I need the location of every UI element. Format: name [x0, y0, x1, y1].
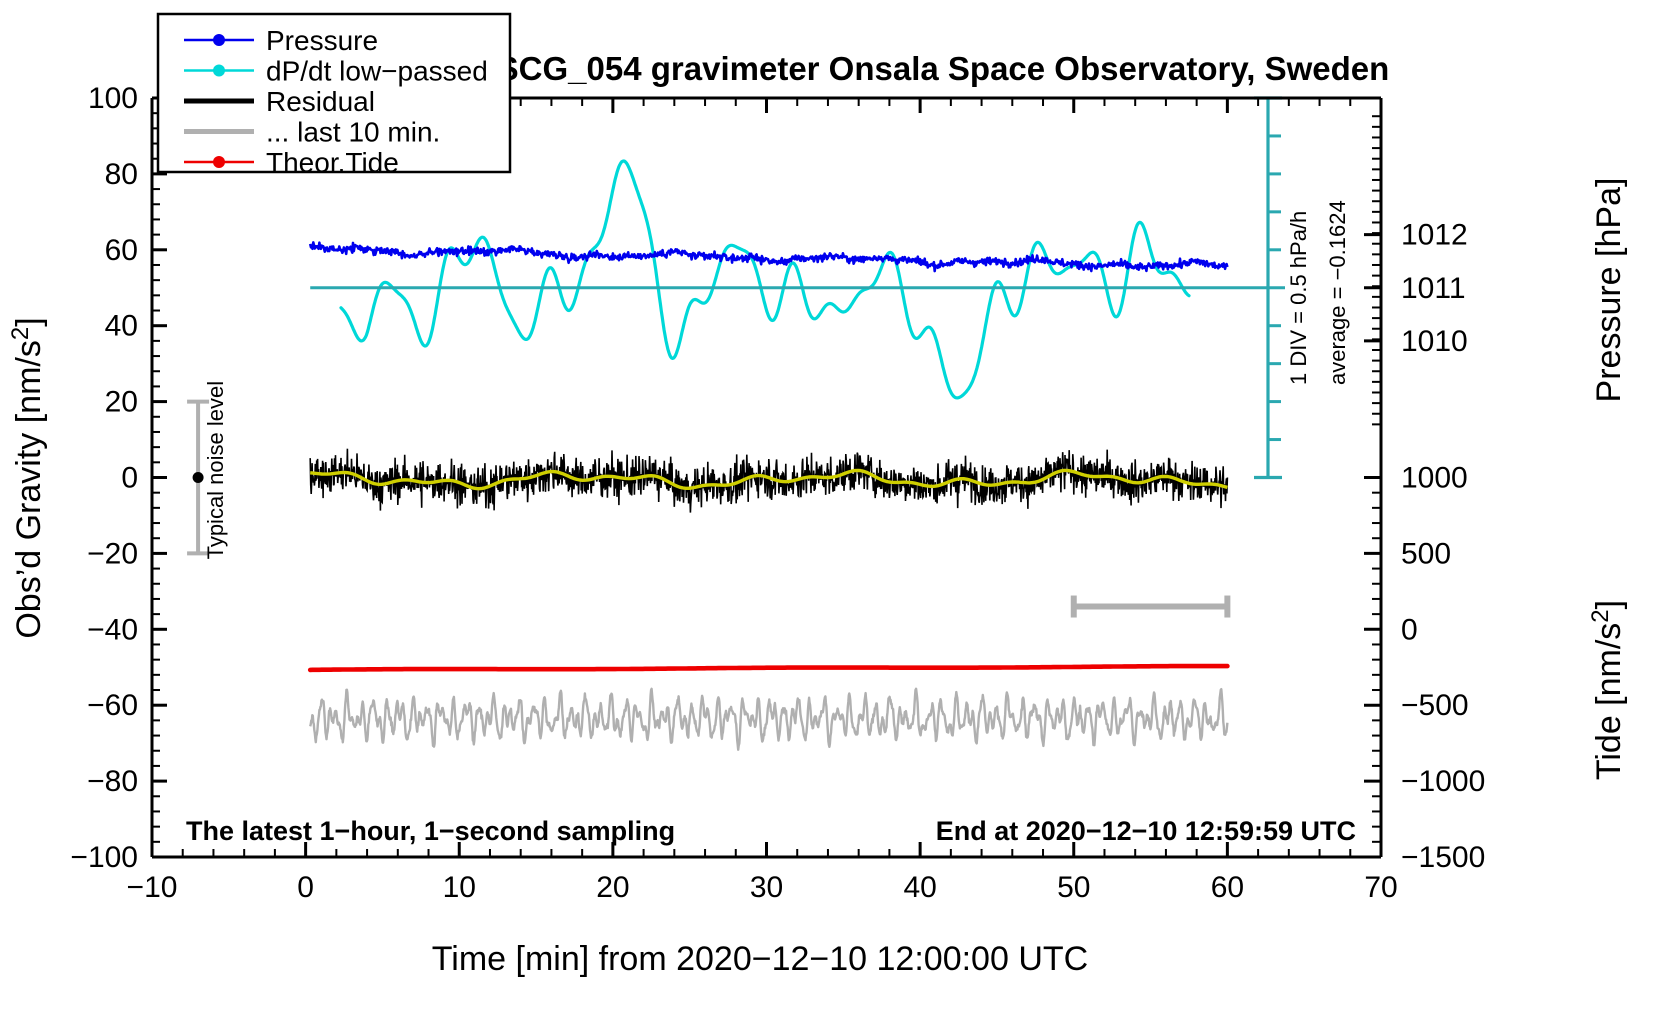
legend-item-label: Residual [266, 86, 375, 117]
legend-item-label: dP/dt low−passed [266, 56, 488, 87]
x-tick-label: 40 [903, 871, 936, 904]
legend-item-label: Pressure [266, 25, 378, 56]
y-tick-label: 40 [105, 310, 138, 343]
gravimeter-plot: Typical noise level−10010203040506070−10… [0, 0, 1660, 1020]
legend-swatch-marker [213, 65, 225, 77]
x-tick-label: 50 [1057, 871, 1090, 904]
y-tick-label: 60 [105, 234, 138, 267]
x-tick-label: 60 [1211, 871, 1244, 904]
chart-title: SCG_054 gravimeter Onsala Space Observat… [497, 50, 1390, 87]
x-tick-label: −10 [127, 871, 178, 904]
x-tick-label: 70 [1364, 871, 1397, 904]
footer-right-note: End at 2020−12−10 12:59:59 UTC [936, 816, 1356, 846]
tide-tick-label: −1000 [1401, 765, 1485, 798]
pressure-axis-title: Pressure [hPa] [1590, 178, 1628, 403]
pressure-tick-label: 1010 [1401, 325, 1468, 358]
y-tick-label: 0 [121, 462, 138, 495]
y-tick-label: 20 [105, 386, 138, 419]
y-tick-label: −20 [87, 537, 138, 570]
tide-tick-label: 0 [1401, 613, 1418, 646]
tide-tick-label: −1500 [1401, 841, 1485, 874]
y-tick-label: −40 [87, 613, 138, 646]
x-tick-label: 0 [297, 871, 314, 904]
x-tick-label: 30 [750, 871, 783, 904]
x-tick-label: 20 [596, 871, 629, 904]
legend-item-label: ... last 10 min. [266, 117, 440, 148]
pressure-average-note: average = −0.1624 [1325, 200, 1350, 385]
pressure-div-note: 1 DIV = 0.5 hPa/h [1286, 211, 1311, 385]
y-tick-label: −100 [70, 841, 138, 874]
noise-level-label: Typical noise level [203, 381, 228, 560]
tide-tick-label: 500 [1401, 537, 1451, 570]
tide-axis-title: Tide [nm/s2] [1587, 600, 1628, 780]
pressure-tick-label: 1012 [1401, 219, 1468, 252]
legend-swatch-marker [213, 34, 225, 46]
legend-item-label: Theor.Tide [266, 147, 399, 178]
noise-bar-center-dot [193, 472, 204, 483]
pressure-tick-label: 1011 [1401, 272, 1466, 305]
y-tick-label: 100 [88, 82, 138, 115]
y-axis-title: Obs’d Gravity [nm/s2] [7, 317, 48, 638]
x-tick-label: 10 [443, 871, 476, 904]
tide-tick-label: −500 [1401, 689, 1469, 722]
footer-left-note: The latest 1−hour, 1−second sampling [186, 816, 675, 846]
y-tick-label: 80 [105, 158, 138, 191]
legend-swatch-marker [213, 156, 225, 168]
x-axis-title: Time [min] from 2020−12−10 12:00:00 UTC [432, 940, 1088, 978]
y-tick-label: −80 [87, 765, 138, 798]
y-tick-label: −60 [87, 689, 138, 722]
tide-tick-label: 1000 [1401, 462, 1468, 495]
chart-canvas: Typical noise level−10010203040506070−10… [0, 0, 1660, 1020]
